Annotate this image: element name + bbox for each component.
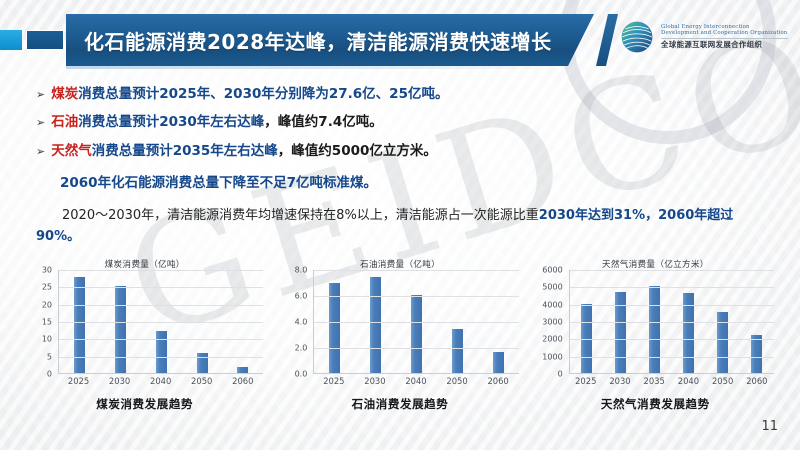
bullet-text-oil: 石油消费总量预计2030年左右达峰，峰值约7.4亿吨。	[51, 112, 383, 132]
banner-underline	[66, 66, 574, 69]
chart-xlabels-gas: 202520302035204020502060	[569, 376, 774, 386]
chart-gridline-gas	[570, 322, 774, 323]
chart-gridline-coal	[59, 305, 263, 306]
chart-xlabel-gas: 2030	[609, 376, 630, 386]
navy-block-icon	[26, 30, 64, 50]
bullet-tail-gas: ，峰值约5000亿立方米。	[278, 143, 437, 159]
chart-gridline-oil	[314, 270, 518, 271]
chart-title-coal: 煤炭消费量（亿吨）	[22, 258, 267, 270]
bullet-arrow-icon: ➢	[36, 87, 45, 104]
chart-gridline-coal	[59, 339, 263, 340]
banner-slash-decoration	[596, 14, 618, 66]
chart-gridline-oil	[314, 322, 518, 323]
chart-ytick-coal: 30	[42, 266, 52, 275]
bullet-arrow-icon: ➢	[36, 115, 45, 132]
bullet-item-oil: ➢ 石油消费总量预计2030年左右达峰，峰值约7.4亿吨。	[36, 112, 756, 132]
chart-bar-gas	[581, 304, 592, 373]
paragraph-clean-energy: 2020～2030年，清洁能源消费年均增速保持在8%以上，清洁能源占一次能源比重…	[36, 205, 756, 248]
chart-gridline-gas	[570, 357, 774, 358]
chart-xlabel-coal: 2030	[109, 376, 130, 386]
page-title: 化石能源消费2028年达峰，清洁能源消费快速增长	[66, 26, 552, 55]
chart-xlabel-gas: 2060	[746, 376, 767, 386]
chart-plot-coal: 302520151050	[22, 270, 267, 374]
geidco-logo: Global Energy Interconnection Developmen…	[620, 20, 788, 54]
chart-xlabel-gas: 2050	[712, 376, 733, 386]
chart-ytick-coal: 25	[42, 283, 52, 292]
bullet-rest-gas: 消费总量预计2035年左右达峰	[92, 143, 278, 159]
chart-bar-coal	[115, 286, 126, 373]
chart-plot-oil: 8.06.04.02.00.0	[277, 270, 522, 374]
chart-ytick-oil: 0.0	[295, 370, 308, 379]
chart-xlabel-coal: 2050	[191, 376, 212, 386]
chart-yaxis-coal: 302520151050	[22, 270, 56, 374]
chart-ytick-gas: 0	[558, 370, 563, 379]
chart-ytick-gas: 1000	[542, 352, 562, 361]
chart-oil: 石油消费量（亿吨） 8.06.04.02.00.0 20252030204020…	[277, 256, 522, 426]
chart-bar-coal	[74, 277, 85, 373]
subline-fossil-2060: 2060年化石能源消费总量下降至不足7亿吨标准煤。	[60, 173, 756, 193]
chart-xlabel-oil: 2050	[446, 376, 467, 386]
chart-xlabel-coal: 2025	[68, 376, 89, 386]
slide-canvas: GEIDCO 化石能源消费2028年达峰，清洁能源消费快速增长	[0, 0, 800, 450]
chart-gridline-gas	[570, 305, 774, 306]
chart-caption-gas: 天然气消费发展趋势	[533, 396, 778, 412]
bullet-rest-oil: 消费总量预计2030年左右达峰	[78, 114, 264, 130]
chart-plotarea-gas	[569, 270, 774, 374]
title-bar: 化石能源消费2028年达峰，清洁能源消费快速增长	[0, 14, 800, 66]
chart-gridline-gas	[570, 287, 774, 288]
logo-text-block: Global Energy Interconnection Developmen…	[661, 24, 788, 49]
bullet-keyword-oil: 石油	[51, 114, 78, 130]
paragraph-period: 。	[67, 229, 80, 244]
bullet-keyword-coal: 煤炭	[51, 86, 78, 102]
bullet-item-gas: ➢ 天然气消费总量预计2035年左右达峰，峰值约5000亿立方米。	[36, 141, 756, 161]
chart-gridline-oil	[314, 296, 518, 297]
chart-ytick-oil: 8.0	[295, 266, 308, 275]
chart-bar-oil	[370, 277, 381, 373]
chart-ytick-gas: 4000	[542, 300, 562, 309]
logo-cn-name: 全球能源互联网发展合作组织	[661, 41, 788, 50]
chart-ytick-oil: 6.0	[295, 292, 308, 301]
chart-coal: 煤炭消费量（亿吨） 302520151050 20252030204020502…	[22, 256, 267, 426]
bullet-arrow-icon: ➢	[36, 144, 45, 161]
chart-xlabels-oil: 20252030204020502060	[313, 376, 518, 386]
chart-ytick-oil: 4.0	[295, 318, 308, 327]
chart-gridline-coal	[59, 270, 263, 271]
chart-title-oil: 石油消费量（亿吨）	[277, 258, 522, 270]
title-banner: 化石能源消费2028年达峰，清洁能源消费快速增长	[66, 14, 594, 66]
chart-gridline-coal	[59, 357, 263, 358]
chart-plot-gas: 6000500040003000200010000	[533, 270, 778, 374]
chart-ytick-gas: 3000	[542, 318, 562, 327]
title-left-decoration	[0, 30, 64, 50]
chart-bar-coal	[156, 331, 167, 373]
logo-divider	[661, 38, 788, 39]
chart-title-gas: 天然气消费量（亿立方米）	[533, 258, 778, 270]
chart-ytick-gas: 5000	[542, 283, 562, 292]
chart-gridline-oil	[314, 348, 518, 349]
chart-xlabel-oil: 2025	[323, 376, 344, 386]
chart-bar-gas	[649, 286, 660, 373]
chart-gas: 天然气消费量（亿立方米） 6000500040003000200010000 2…	[533, 256, 778, 426]
chart-ytick-coal: 5	[47, 352, 52, 361]
bullet-text-coal: 煤炭消费总量预计2025年、2030年分别降为27.6亿、25亿吨。	[51, 84, 448, 104]
charts-row: 煤炭消费量（亿吨） 302520151050 20252030204020502…	[22, 256, 778, 426]
chart-bar-oil	[411, 295, 422, 373]
chart-caption-coal: 煤炭消费发展趋势	[22, 396, 267, 412]
chart-xlabels-coal: 20252030204020502060	[58, 376, 263, 386]
paragraph-comma: ，	[645, 208, 658, 223]
chart-ytick-oil: 2.0	[295, 344, 308, 353]
chart-plotarea-oil	[313, 270, 518, 374]
chart-yaxis-gas: 6000500040003000200010000	[533, 270, 567, 374]
chart-ytick-coal: 15	[42, 318, 52, 327]
chart-ytick-coal: 20	[42, 300, 52, 309]
bullet-item-coal: ➢ 煤炭消费总量预计2025年、2030年分别降为27.6亿、25亿吨。	[36, 84, 756, 104]
chart-ytick-gas: 2000	[542, 335, 562, 344]
chart-ytick-gas: 6000	[542, 266, 562, 275]
chart-bar-oil	[493, 352, 504, 373]
chart-xlabel-gas: 2025	[575, 376, 596, 386]
chart-xlabel-oil: 2030	[364, 376, 385, 386]
bullet-keyword-gas: 天然气	[51, 143, 92, 159]
chart-yaxis-oil: 8.06.04.02.00.0	[277, 270, 311, 374]
bullet-tail-oil: ，峰值约7.4亿吨。	[264, 114, 382, 130]
chart-gridline-coal	[59, 322, 263, 323]
page-number: 11	[761, 419, 778, 434]
chart-xlabel-coal: 2040	[150, 376, 171, 386]
chart-plotarea-coal	[58, 270, 263, 374]
chart-gridline-coal	[59, 287, 263, 288]
chart-xlabel-coal: 2060	[232, 376, 253, 386]
chart-gridline-gas	[570, 339, 774, 340]
bullet-list: ➢ 煤炭消费总量预计2025年、2030年分别降为27.6亿、25亿吨。 ➢ 石…	[36, 84, 756, 248]
cyan-block-icon	[0, 30, 22, 50]
chart-gridline-gas	[570, 270, 774, 271]
chart-bar-coal	[237, 367, 248, 373]
chart-caption-oil: 石油消费发展趋势	[277, 396, 522, 412]
chart-xlabel-gas: 2040	[678, 376, 699, 386]
chart-ytick-coal: 0	[47, 370, 52, 379]
bullet-rest-coal: 消费总量预计2025年、2030年分别降为27.6亿、25亿吨。	[78, 86, 448, 102]
chart-bar-gas	[751, 335, 762, 373]
chart-xlabel-oil: 2040	[405, 376, 426, 386]
chart-xlabel-gas: 2035	[644, 376, 665, 386]
paragraph-highlight-2030: 2030年达到31%	[539, 208, 645, 223]
logo-en-line2: Development and Cooperation Organization	[661, 30, 788, 36]
paragraph-part1: 2020～2030年，清洁能源消费年均增速保持在8%以上，清洁能源占一次能源比重	[62, 208, 539, 223]
globe-icon	[620, 20, 654, 54]
bullet-text-gas: 天然气消费总量预计2035年左右达峰，峰值约5000亿立方米。	[51, 141, 437, 161]
chart-xlabel-oil: 2060	[487, 376, 508, 386]
chart-ytick-coal: 10	[42, 335, 52, 344]
chart-bar-oil	[452, 329, 463, 373]
